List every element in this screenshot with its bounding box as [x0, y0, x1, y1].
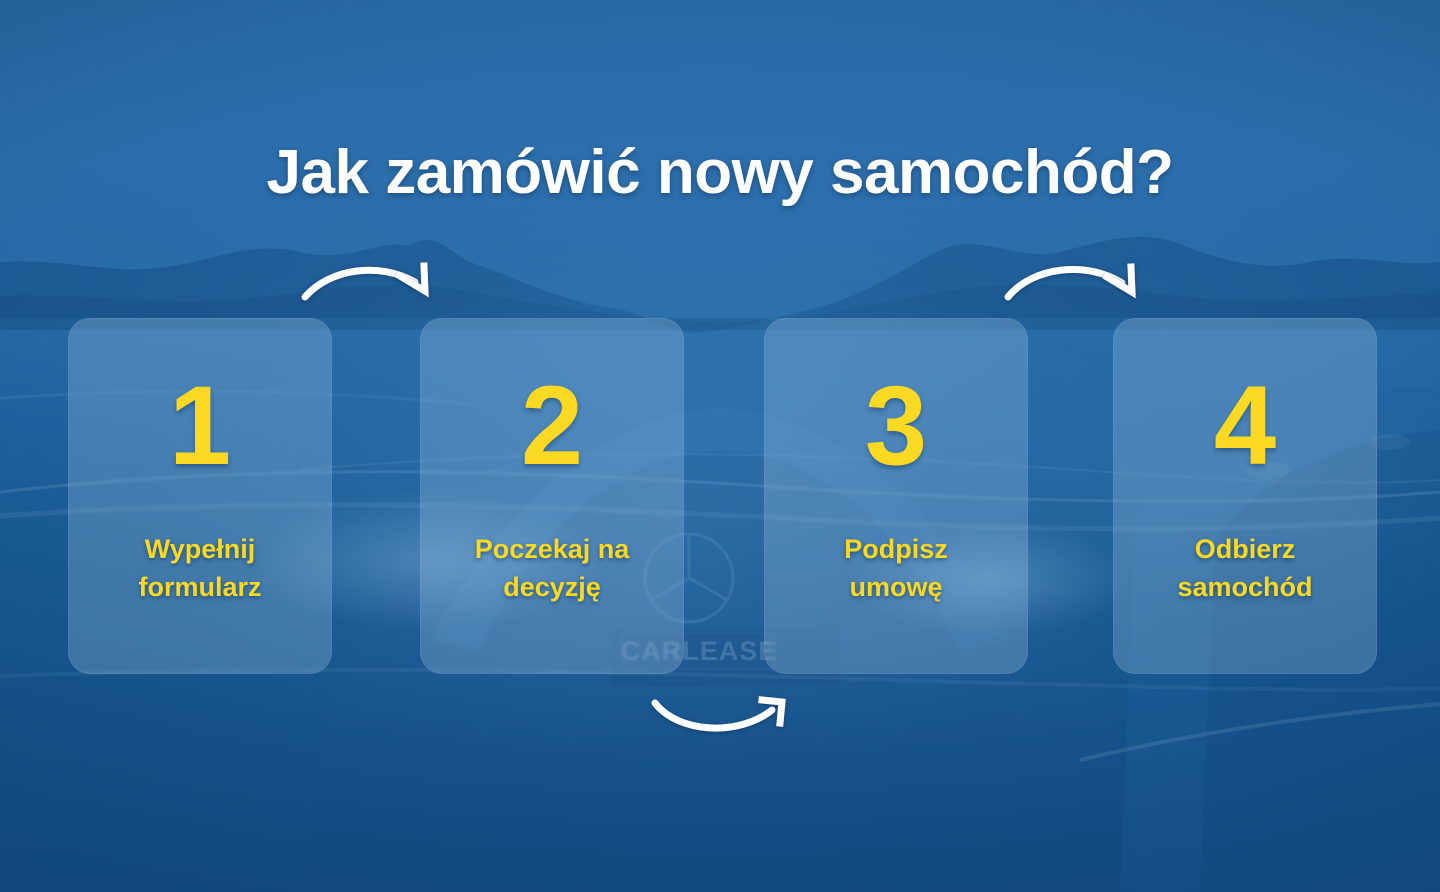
- step-card-4[interactable]: 4 Odbierz samochód: [1113, 318, 1377, 674]
- step-number-3: 3: [764, 370, 1028, 482]
- step-label-4-line1: Odbierz: [1123, 530, 1367, 568]
- step-label-4: Odbierz samochód: [1113, 530, 1377, 607]
- step-card-1[interactable]: 1 Wypełnij formularz: [68, 318, 332, 674]
- step-number-4: 4: [1113, 370, 1377, 482]
- infographic-root: CARLEASE Jak zamówić nowy samochód? 1 Wy…: [0, 0, 1440, 892]
- step-label-2-line2: decyzję: [430, 568, 674, 606]
- step-label-1-line2: formularz: [78, 568, 322, 606]
- steps-container: 1 Wypełnij formularz 2 Poczekaj na decyz…: [0, 318, 1440, 674]
- step-number-2: 2: [420, 370, 684, 482]
- step-label-3-line2: umowę: [774, 568, 1018, 606]
- step-label-3: Podpisz umowę: [764, 530, 1028, 607]
- step-card-3[interactable]: 3 Podpisz umowę: [764, 318, 1028, 674]
- page-title: Jak zamówić nowy samochód?: [0, 140, 1440, 205]
- step-number-1: 1: [68, 370, 332, 482]
- step-label-1-line1: Wypełnij: [78, 530, 322, 568]
- step-label-3-line1: Podpisz: [774, 530, 1018, 568]
- step-label-1: Wypełnij formularz: [68, 530, 332, 607]
- step-label-4-line2: samochód: [1123, 568, 1367, 606]
- step-card-2[interactable]: 2 Poczekaj na decyzję: [420, 318, 684, 674]
- step-label-2-line1: Poczekaj na: [430, 530, 674, 568]
- step-label-2: Poczekaj na decyzję: [420, 530, 684, 607]
